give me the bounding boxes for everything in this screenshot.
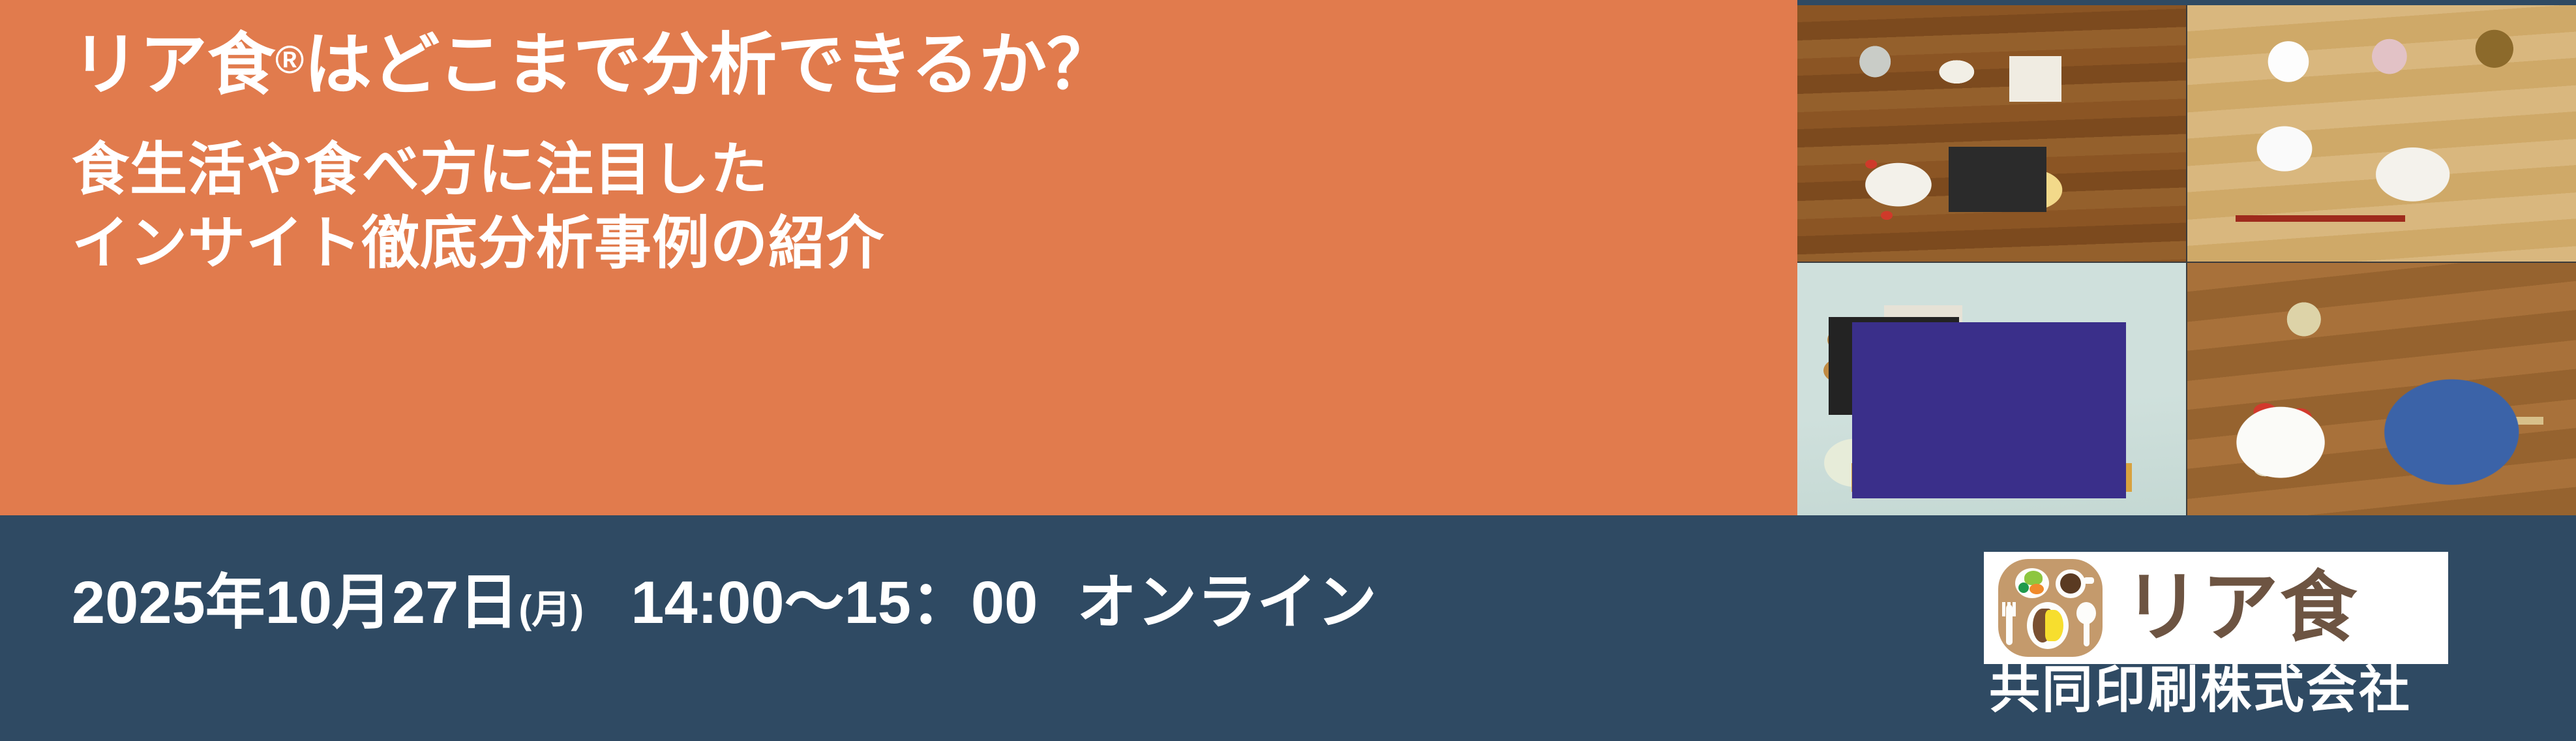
- event-format: オンライン: [1077, 569, 1377, 636]
- lettuce-icon: [2024, 571, 2043, 585]
- coffee-liquid-icon: [2060, 573, 2081, 594]
- company-name: 共同印刷株式会社: [1989, 664, 2459, 715]
- registered-trademark-icon: ®: [275, 38, 304, 82]
- rice-icon: [2045, 610, 2063, 641]
- photo-pasta-bento: [1797, 5, 2186, 262]
- subtitle-line-2: インサイト徹底分析事例の紹介: [72, 207, 1767, 280]
- brand-logo: リア食: [1984, 552, 2448, 664]
- meal-tray-icon: [1998, 559, 2106, 657]
- subtitle-block: 食生活や食べ方に注目した インサイト徹底分析事例の紹介: [72, 133, 1767, 280]
- carrot-icon: [2029, 584, 2044, 594]
- spoon-icon: [2084, 620, 2089, 646]
- subtitle-line-1: 食生活や食べ方に注目した: [72, 133, 1767, 207]
- event-details: 2025年10月27日(月)14:00〜15：00オンライン: [72, 573, 1377, 633]
- fork-icon: [2006, 605, 2013, 645]
- food-photo-grid: [1797, 5, 2576, 519]
- title-suffix: はどこまで分析できるか？: [304, 27, 1115, 103]
- photo-rice-misosoup: [2187, 5, 2576, 262]
- seminar-banner: リア食®はどこまで分析できるか？ 食生活や食べ方に注目した インサイト徹底分析事…: [0, 0, 2576, 741]
- brand-name: リア食: [2123, 569, 2358, 646]
- title-prefix: リア食: [72, 27, 275, 103]
- pea-icon: [2018, 582, 2029, 593]
- photo-champon-noodles: [2187, 263, 2576, 519]
- page-title: リア食®はどこまで分析できるか？: [72, 27, 1767, 103]
- headline-panel: リア食®はどこまで分析できるか？ 食生活や食べ方に注目した インサイト徹底分析事…: [0, 0, 1797, 515]
- event-day-of-week: (月): [518, 588, 584, 631]
- event-time: 14:00〜15：00: [631, 569, 1038, 636]
- photo-sushi-tray: [1797, 263, 2186, 519]
- event-date: 2025年10月27日: [72, 569, 518, 636]
- title-block: リア食®はどこまで分析できるか？ 食生活や食べ方に注目した インサイト徹底分析事…: [72, 27, 1767, 280]
- cup-handle-icon: [2084, 577, 2094, 584]
